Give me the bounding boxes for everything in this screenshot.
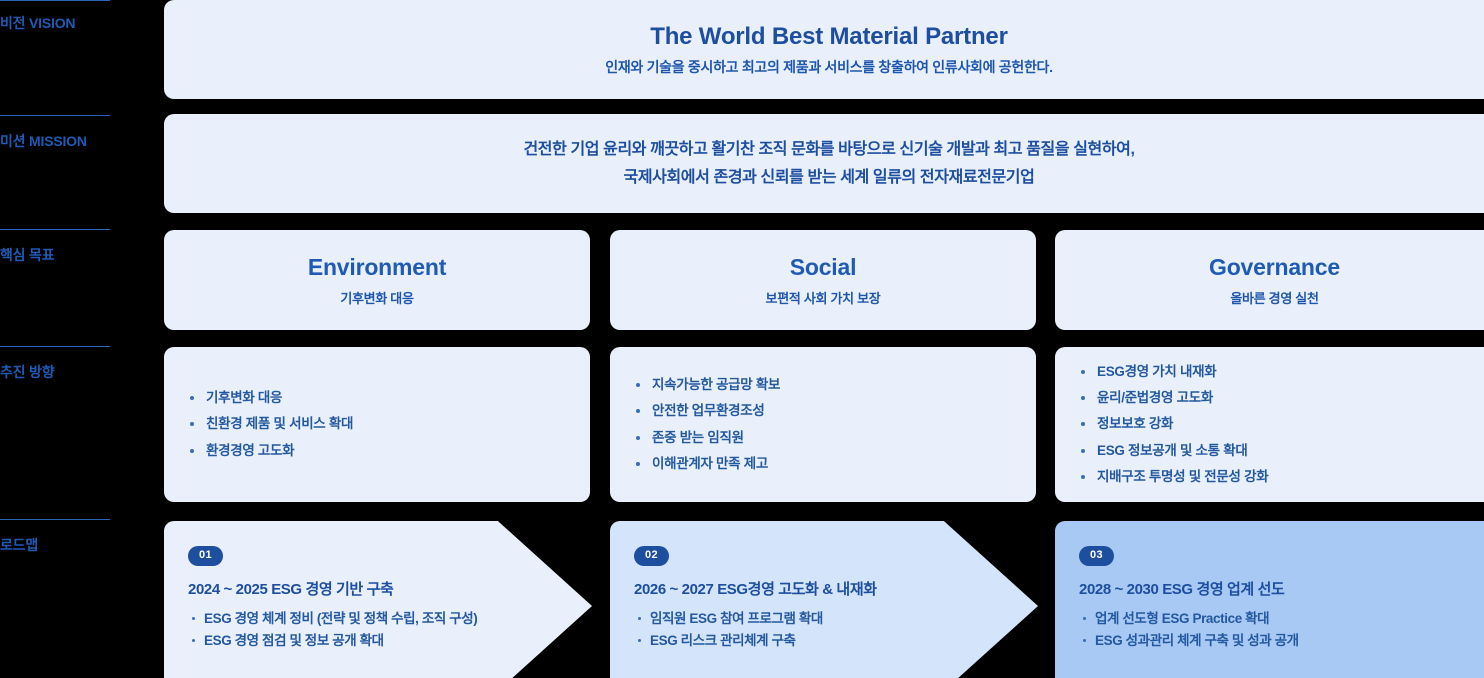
list-item: 임직원 ESG 참여 프로그램 확대	[650, 608, 1038, 630]
vision-title: The World Best Material Partner	[650, 23, 1007, 51]
roadmap-list-2: 임직원 ESG 참여 프로그램 확대 ESG 리스크 관리체계 구축	[634, 608, 1038, 653]
pillar-title-social: Social	[790, 254, 857, 281]
pillar-card-governance: Governance 올바른 경영 실천	[1055, 230, 1484, 330]
vision-card: The World Best Material Partner 인재와 기술을 …	[164, 0, 1484, 99]
list-item: ESG 리스크 관리체계 구축	[650, 630, 1038, 652]
list-item: 환경경영 고도화	[206, 438, 353, 464]
list-item: 지속가능한 공급망 확보	[652, 372, 780, 398]
roadmap-title-1: 2024 ~ 2025 ESG 경영 기반 구축	[188, 578, 592, 599]
roadmap-badge-3: 03	[1079, 546, 1114, 566]
pillar-title-governance: Governance	[1209, 254, 1340, 281]
list-item: 윤리/준법경영 고도화	[1097, 385, 1268, 411]
list-item: ESG 정보공개 및 소통 확대	[1097, 438, 1268, 464]
rail-label-core-goal: 핵심 목표	[0, 245, 170, 265]
rail-label-roadmap: 로드맵	[0, 535, 170, 555]
list-item: 이해관계자 만족 제고	[652, 451, 780, 477]
mission-line-2: 국제사회에서 존경과 신뢰를 받는 세계 일류의 전자재료전문기업	[624, 164, 1035, 192]
rail-divider-direction	[0, 346, 110, 347]
list-item: ESG 경영 체계 정비 (전략 및 정책 수립, 조직 구성)	[204, 608, 592, 630]
list-item: 기후변화 대응	[206, 385, 353, 411]
direction-list-governance: ESG경영 가치 내재화 윤리/준법경영 고도화 정보보호 강화 ESG 정보공…	[1055, 359, 1268, 491]
direction-list-social: 지속가능한 공급망 확보 안전한 업무환경조성 존중 받는 임직원 이해관계자 …	[610, 372, 780, 477]
roadmap-list-3: 업계 선도형 ESG Practice 확대 ESG 성과관리 체계 구축 및 …	[1079, 608, 1484, 653]
rail-label-vision: 비전 VISION	[0, 13, 170, 33]
list-item: 정보보호 강화	[1097, 411, 1268, 437]
pillar-card-social: Social 보편적 사회 가치 보장	[610, 230, 1036, 330]
direction-list-environment: 기후변화 대응 친환경 제품 및 서비스 확대 환경경영 고도화	[164, 385, 353, 464]
direction-card-social: 지속가능한 공급망 확보 안전한 업무환경조성 존중 받는 임직원 이해관계자 …	[610, 347, 1036, 502]
list-item: 존중 받는 임직원	[652, 425, 780, 451]
list-item: ESG경영 가치 내재화	[1097, 359, 1268, 385]
roadmap-phase-1: 01 2024 ~ 2025 ESG 경영 기반 구축 ESG 경영 체계 정비…	[164, 521, 592, 678]
pillar-subtitle-social: 보편적 사회 가치 보장	[766, 288, 881, 307]
mission-card: 건전한 기업 윤리와 깨끗하고 활기찬 조직 문화를 바탕으로 신기술 개발과 …	[164, 114, 1484, 213]
pillar-subtitle-governance: 올바른 경영 실천	[1230, 288, 1318, 307]
rail-divider-vision	[0, 0, 110, 1]
rail-label-mission: 미션 MISSION	[0, 131, 170, 151]
mission-line-1: 건전한 기업 윤리와 깨끗하고 활기찬 조직 문화를 바탕으로 신기술 개발과 …	[523, 136, 1134, 164]
esg-strategy-diagram: 비전 VISION 미션 MISSION 핵심 목표 추진 방향 로드맵 The…	[0, 0, 1484, 678]
list-item: 업계 선도형 ESG Practice 확대	[1095, 608, 1484, 630]
rail-divider-core-goal	[0, 229, 110, 230]
direction-card-governance: ESG경영 가치 내재화 윤리/준법경영 고도화 정보보호 강화 ESG 정보공…	[1055, 347, 1484, 502]
vision-subtitle: 인재와 기술을 중시하고 최고의 제품과 서비스를 창출하여 인류사회에 공헌한…	[605, 57, 1052, 77]
list-item: ESG 경영 점검 및 정보 공개 확대	[204, 630, 592, 652]
direction-card-environment: 기후변화 대응 친환경 제품 및 서비스 확대 환경경영 고도화	[164, 347, 590, 502]
roadmap-badge-1: 01	[188, 546, 223, 566]
roadmap-badge-2: 02	[634, 546, 669, 566]
list-item: 지배구조 투명성 및 전문성 강화	[1097, 464, 1268, 490]
list-item: 안전한 업무환경조성	[652, 398, 780, 424]
rail-divider-mission	[0, 115, 110, 116]
roadmap-title-3: 2028 ~ 2030 ESG 경영 업계 선도	[1079, 578, 1484, 599]
roadmap-title-2: 2026 ~ 2027 ESG경영 고도화 & 내재화	[634, 578, 1038, 599]
roadmap-list-1: ESG 경영 체계 정비 (전략 및 정책 수립, 조직 구성) ESG 경영 …	[188, 608, 592, 653]
pillar-subtitle-environment: 기후변화 대응	[340, 288, 413, 307]
rail-divider-roadmap	[0, 519, 110, 520]
pillar-title-environment: Environment	[308, 254, 446, 281]
roadmap-phase-3: 03 2028 ~ 2030 ESG 경영 업계 선도 업계 선도형 ESG P…	[1055, 521, 1484, 678]
rail-label-direction: 추진 방향	[0, 362, 170, 382]
list-item: 친환경 제품 및 서비스 확대	[206, 411, 353, 437]
roadmap-phase-2: 02 2026 ~ 2027 ESG경영 고도화 & 내재화 임직원 ESG 참…	[610, 521, 1038, 678]
pillar-card-environment: Environment 기후변화 대응	[164, 230, 590, 330]
list-item: ESG 성과관리 체계 구축 및 성과 공개	[1095, 630, 1484, 652]
